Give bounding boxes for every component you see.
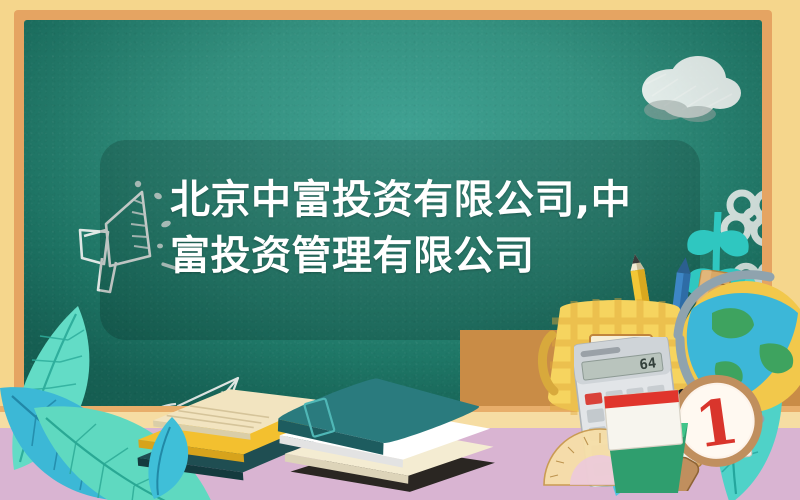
banner-image: 北京中富投资有限公司,中富投资管理有限公司 [0, 0, 800, 500]
book-stack-icon [272, 365, 502, 500]
page-title: 北京中富投资有限公司,中富投资管理有限公司 [170, 172, 690, 284]
calculator-display: 64 [639, 355, 658, 373]
chalk-cloud-icon [636, 48, 744, 131]
chalk-flower-icon [718, 185, 762, 256]
paper-stack-icon [600, 381, 690, 456]
headline-line-2: 富投资管理有限公司 [170, 233, 535, 279]
headline-line-1: 北京中富投资有限公司,中 [170, 177, 631, 223]
